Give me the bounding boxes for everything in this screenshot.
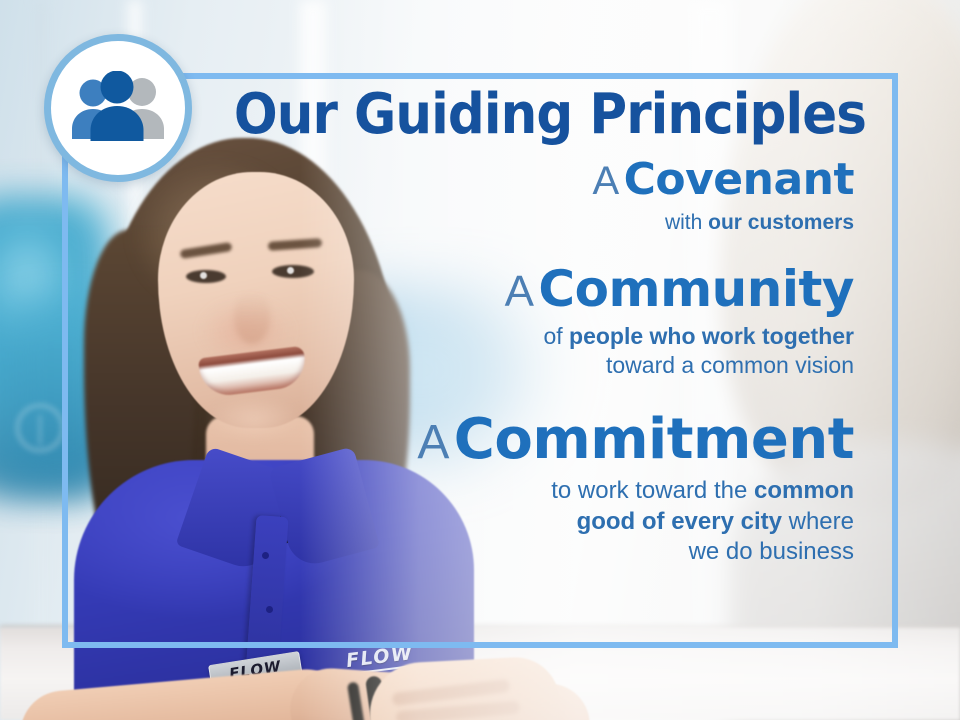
subtext-run: where xyxy=(782,508,854,535)
subtext-emphasis: people who work together xyxy=(569,323,854,349)
subtext-run: toward a common vision xyxy=(606,352,854,378)
principle-article: A xyxy=(592,159,619,203)
people-group-badge xyxy=(44,34,192,182)
subtext-line: of people who work together xyxy=(180,322,854,351)
principle-keyword: Commitment xyxy=(454,407,854,472)
principles-copy-block: Our Guiding Principles A Covenant with o… xyxy=(180,86,880,568)
page-title: Our Guiding Principles xyxy=(234,86,854,143)
subtext-emphasis: common xyxy=(754,477,854,504)
principle-heading: A Community xyxy=(180,263,854,316)
subtext-run: of xyxy=(543,323,569,349)
principle-commitment: A Commitment to work toward the commongo… xyxy=(180,410,854,568)
principle-article: A xyxy=(417,416,449,469)
principle-heading: A Commitment xyxy=(180,410,854,469)
subtext-emphasis: our customers xyxy=(708,211,854,234)
subtext-run: to work toward the xyxy=(551,477,754,504)
subtext-run: we do business xyxy=(689,538,854,565)
guiding-principles-banner: FLOW AUTOMOTIVE FLOW xyxy=(0,0,960,720)
subtext-line: good of every city where xyxy=(180,507,854,538)
principle-community: A Community of people who work togethert… xyxy=(180,263,854,381)
principle-subtext: to work toward the commongood of every c… xyxy=(180,476,854,568)
subtext-line: to work toward the common xyxy=(180,476,854,507)
subtext-emphasis: good of every city xyxy=(577,508,782,535)
subtext-line: we do business xyxy=(180,537,854,568)
principle-article: A xyxy=(505,267,534,316)
principle-subtext: with our customers xyxy=(180,210,854,237)
principle-heading: A Covenant xyxy=(180,157,854,204)
principle-keyword: Community xyxy=(538,260,854,318)
principle-covenant: A Covenant with our customers xyxy=(180,157,854,237)
principle-subtext: of people who work togethertoward a comm… xyxy=(180,322,854,381)
shirt-button xyxy=(266,606,273,613)
principle-keyword: Covenant xyxy=(624,154,854,205)
subtext-line: toward a common vision xyxy=(180,351,854,380)
subtext-run: with xyxy=(665,211,708,234)
people-group-icon xyxy=(66,71,170,145)
subtext-line: with our customers xyxy=(180,210,854,237)
